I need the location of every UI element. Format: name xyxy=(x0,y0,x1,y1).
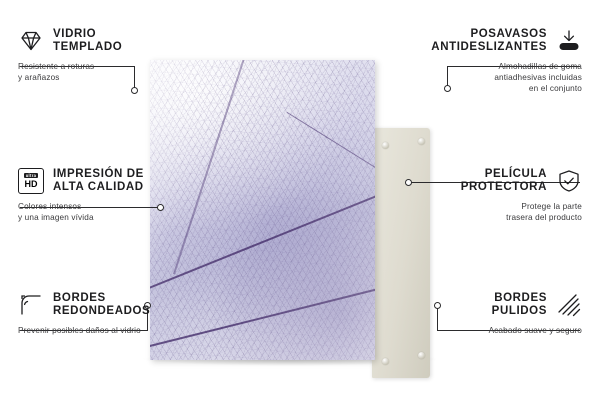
feature-heading: VIDRIO TEMPLADO xyxy=(18,28,148,54)
feature-title-line1: IMPRESIÓN DE xyxy=(53,168,144,181)
product-pad xyxy=(382,358,389,365)
feature-heading: BORDES REDONDEADOS xyxy=(18,292,163,318)
feature-title-line2: ANTIDESLIZANTES xyxy=(431,41,547,54)
feature-description: Prevenir posibles daños al vidrio xyxy=(18,325,163,336)
feature-description: Acabado suave y seguro xyxy=(422,325,582,336)
feature-desc-line1: Acabado suave y seguro xyxy=(422,325,582,336)
product-pad xyxy=(382,142,389,149)
feature-desc-line1: Protege la parte xyxy=(422,201,582,212)
feature-title-line2: ALTA CALIDAD xyxy=(53,181,144,194)
feature-title-line2: PULIDOS xyxy=(492,305,547,318)
rounded-corner-icon xyxy=(18,292,44,318)
feature-description: Resistente a roturas y arañazos xyxy=(18,61,148,83)
feature-vidrio-templado: VIDRIO TEMPLADO Resistente a roturas y a… xyxy=(18,28,148,83)
feature-title-line2: REDONDEADOS xyxy=(53,305,150,318)
glass-board-front xyxy=(150,60,375,360)
connector-dot-impresion xyxy=(157,204,164,211)
hd-badge-hd-text: HD xyxy=(25,179,38,189)
feature-heading: POSAVASOS ANTIDESLIZANTES xyxy=(417,28,582,54)
feature-bordes-redondeados: BORDES REDONDEADOS Prevenir posibles dañ… xyxy=(18,292,163,336)
hd-badge-ultra-text: ultra xyxy=(24,173,39,178)
diamond-icon xyxy=(18,28,44,54)
feature-bordes-pulidos: BORDES PULIDOS Acabado suave y seguro xyxy=(422,292,582,336)
feature-desc-line2: trasera del producto xyxy=(422,212,582,223)
feature-description: Colores intensos y una imagen vívida xyxy=(18,201,153,223)
feature-desc-line2: y arañazos xyxy=(18,72,148,83)
feature-desc-line1: Resistente a roturas xyxy=(18,61,148,72)
connector-dot-vidrio xyxy=(131,87,138,94)
product-back-panel xyxy=(372,128,430,378)
ultra-hd-badge-icon: ultra HD xyxy=(18,168,44,194)
feature-impresion-alta-calidad: ultra HD IMPRESIÓN DE ALTA CALIDAD Color… xyxy=(18,168,153,223)
feature-desc-line1: Colores intensos xyxy=(18,201,153,212)
feature-title-line2: PROTECTORA xyxy=(461,181,547,194)
shield-check-icon xyxy=(556,168,582,194)
feature-desc-line1: Prevenir posibles daños al vidrio xyxy=(18,325,163,336)
feature-title-line1: BORDES xyxy=(53,292,150,305)
feature-desc-line2: antiadhesivas incluidas xyxy=(417,72,582,83)
feature-desc-line2: y una imagen vívida xyxy=(18,212,153,223)
feature-title-line1: POSAVASOS xyxy=(431,28,547,41)
feature-heading: PELÍCULA PROTECTORA xyxy=(422,168,582,194)
infographic-canvas: VIDRIO TEMPLADO Resistente a roturas y a… xyxy=(0,0,600,400)
feature-posavasos-antideslizantes: POSAVASOS ANTIDESLIZANTES Almohadillas d… xyxy=(417,28,582,94)
feature-heading: ultra HD IMPRESIÓN DE ALTA CALIDAD xyxy=(18,168,153,194)
connector-dot-pelicula xyxy=(405,179,412,186)
feature-title-line1: PELÍCULA xyxy=(461,168,547,181)
feature-title-line2: TEMPLADO xyxy=(53,41,122,54)
feature-description: Almohadillas de goma antiadhesivas inclu… xyxy=(417,61,582,94)
feature-description: Protege la parte trasera del producto xyxy=(422,201,582,223)
anti-slip-pad-icon xyxy=(556,28,582,54)
product-pad xyxy=(418,138,425,145)
product-pad xyxy=(418,352,425,359)
polished-edge-lines-icon xyxy=(556,292,582,318)
feature-pelicula-protectora: PELÍCULA PROTECTORA Protege la parte tra… xyxy=(422,168,582,223)
product-photo xyxy=(150,60,430,360)
feature-desc-line3: en el conjunto xyxy=(417,83,582,94)
feature-title-line1: VIDRIO xyxy=(53,28,122,41)
feature-heading: BORDES PULIDOS xyxy=(422,292,582,318)
feature-title-line1: BORDES xyxy=(492,292,547,305)
feature-desc-line1: Almohadillas de goma xyxy=(417,61,582,72)
